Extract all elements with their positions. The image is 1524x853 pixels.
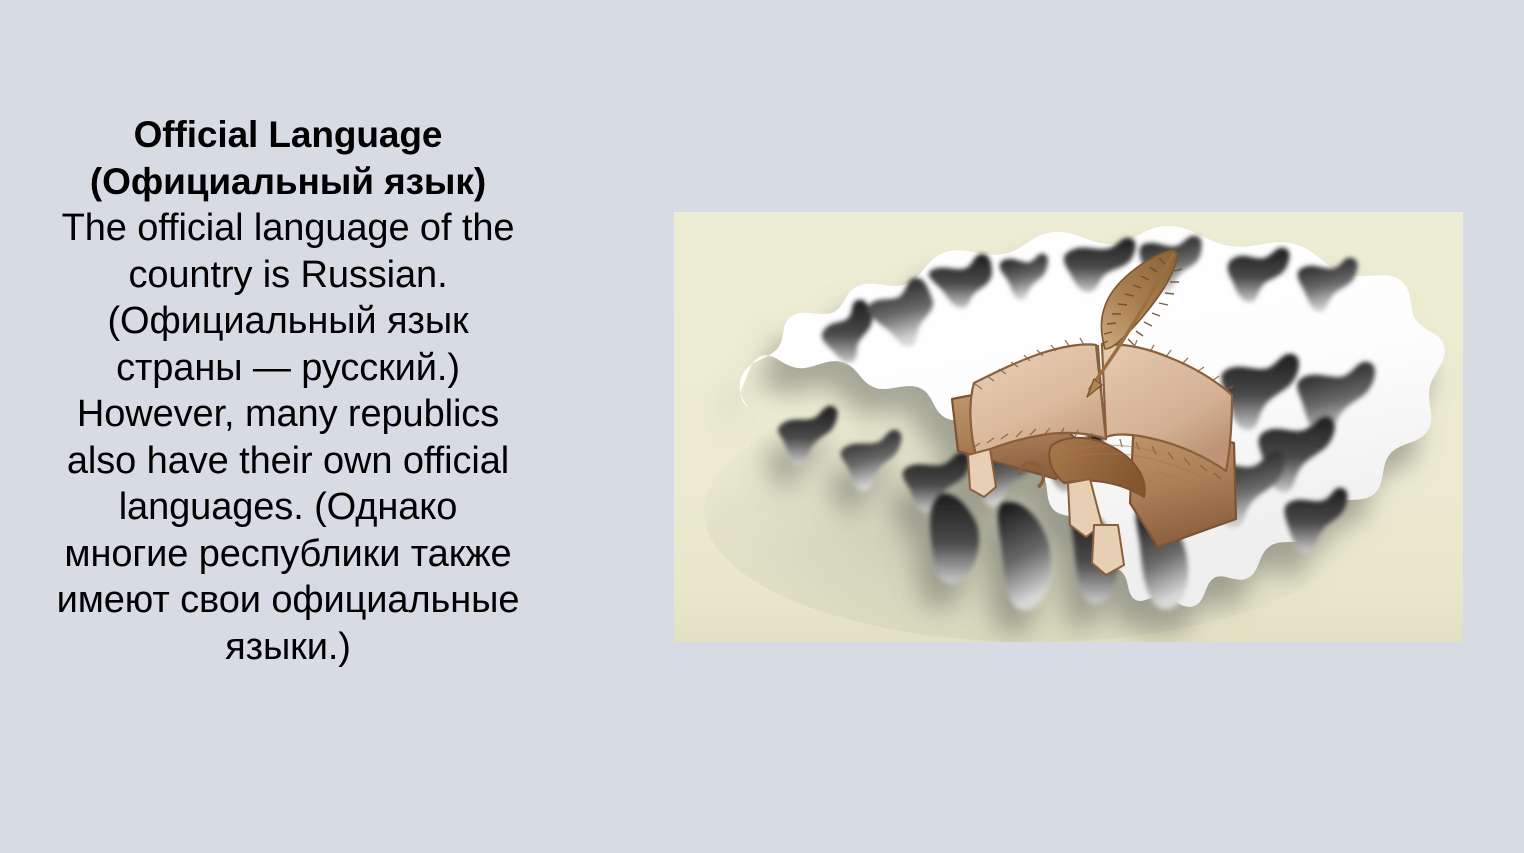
eurasia-map-illustration	[674, 212, 1463, 642]
illustration-panel	[674, 212, 1463, 642]
body-line-2: country is Russian.	[8, 252, 568, 299]
bookmark-ribbon-lower	[1092, 525, 1124, 575]
body-line-4: страны — русский.)	[8, 345, 568, 392]
page-title-russian: (Официальный язык)	[8, 159, 568, 206]
body-line-1: The official language of the	[8, 205, 568, 252]
body-line-7: languages. (Однако	[8, 484, 568, 531]
body-line-3: (Официальный язык	[8, 298, 568, 345]
body-line-8: многие республики также	[8, 531, 568, 578]
page-title-english: Official Language	[8, 112, 568, 159]
body-line-6: also have their own official	[8, 438, 568, 485]
slide-canvas: Official Language (Официальный язык) The…	[0, 0, 1524, 853]
body-line-5: However, many republics	[8, 391, 568, 438]
bookmark-ribbon-left	[968, 449, 996, 497]
slide-text-block: Official Language (Официальный язык) The…	[8, 112, 568, 670]
body-line-10: языки.)	[8, 624, 568, 671]
body-line-9: имеют свои официальные	[8, 577, 568, 624]
